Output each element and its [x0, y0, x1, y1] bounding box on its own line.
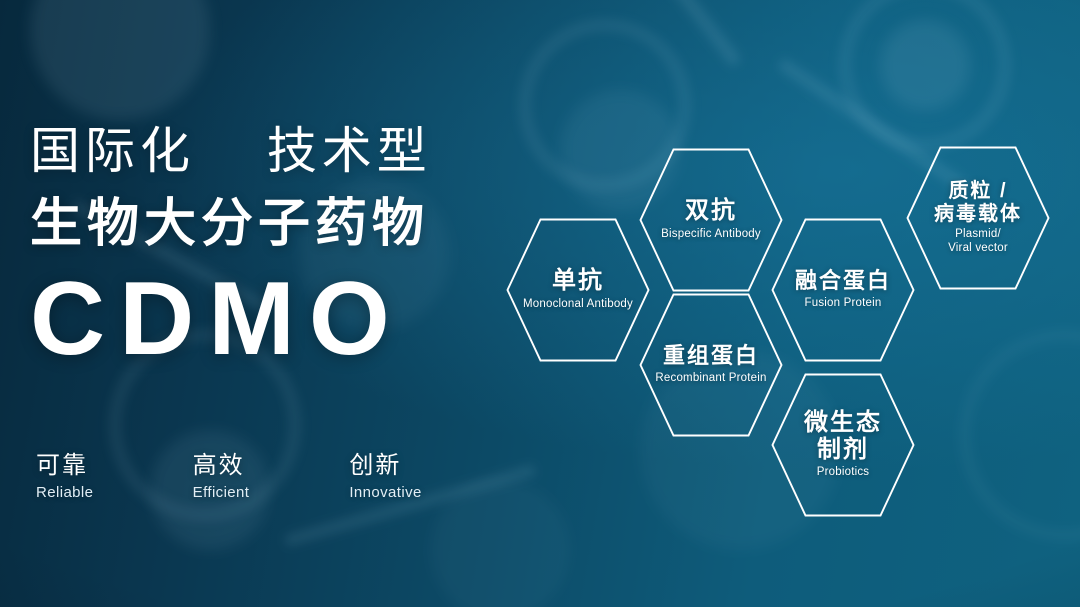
hexagon-en-label: Bispecific Antibody: [661, 228, 761, 242]
hexagon-en-label: Monoclonal Antibody: [523, 298, 633, 312]
hexagon-plasmid-viral-vector[interactable]: 质粒 / 病毒载体 Plasmid/ Viral vector: [903, 143, 1053, 293]
hexagon-bispecific-antibody[interactable]: 双抗 Bispecific Antibody: [636, 145, 786, 295]
hexagon-en-label: Plasmid/ Viral vector: [948, 228, 1008, 256]
hexagon-probiotics[interactable]: 微生态 制剂 Probiotics: [768, 370, 918, 520]
hexagon-cn-label: 质粒 / 病毒载体: [934, 180, 1022, 225]
hexagon-en-label: Fusion Protein: [805, 297, 882, 311]
hexagon-cn-label: 微生态 制剂: [804, 410, 882, 464]
hexagon-cn-label: 单抗: [552, 268, 604, 295]
hexagon-en-label: Recombinant Protein: [655, 372, 766, 386]
hexagon-cn-label: 双抗: [685, 198, 737, 225]
hexagon-monoclonal-antibody[interactable]: 单抗 Monoclonal Antibody: [503, 215, 653, 365]
hexagon-cluster: 单抗 Monoclonal Antibody 双抗 Bispecific Ant…: [0, 0, 1080, 607]
poster-canvas: 国际化 技术型 生物大分子药物 CDMO 可靠 Reliable 高效 Effi…: [0, 0, 1080, 607]
hexagon-en-label: Probiotics: [817, 466, 870, 480]
hexagon-cn-label: 融合蛋白: [795, 269, 891, 294]
hexagon-fusion-protein[interactable]: 融合蛋白 Fusion Protein: [768, 215, 918, 365]
hexagon-cn-label: 重组蛋白: [663, 344, 759, 369]
hexagon-recombinant-protein[interactable]: 重组蛋白 Recombinant Protein: [636, 290, 786, 440]
